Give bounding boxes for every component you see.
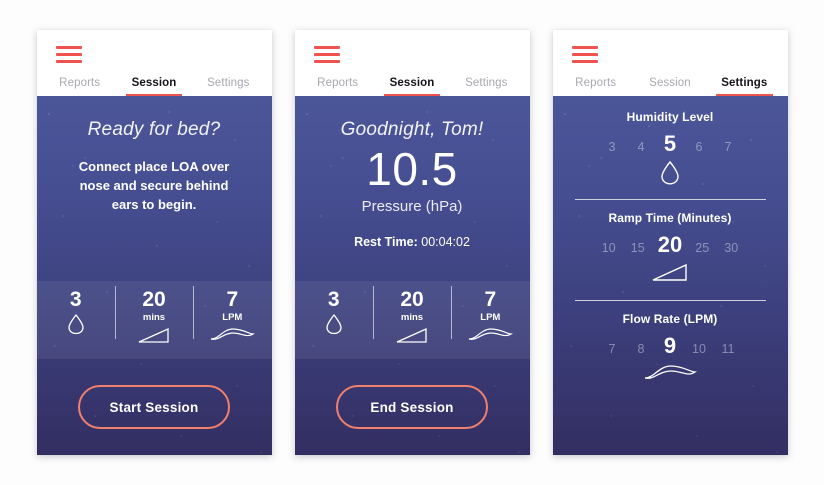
picker-option[interactable]: 6	[690, 140, 708, 154]
phone-panel-settings: Reports Session Settings Humidity Level …	[553, 30, 788, 455]
panel3-body: Humidity Level 3 4 5 6 7 Ramp Time	[553, 96, 788, 455]
hamburger-bar	[56, 60, 82, 63]
tab-session[interactable]: Session	[117, 77, 191, 96]
stat-unit: mins	[373, 312, 451, 323]
stat-unit: mins	[115, 312, 193, 323]
panel3-tabbar: Reports Session Settings	[553, 77, 788, 96]
tab-reports[interactable]: Reports	[301, 77, 375, 96]
hamburger-bar	[314, 60, 340, 63]
hamburger-bar	[56, 53, 82, 56]
picker-option[interactable]: 25	[693, 241, 711, 255]
setting-title: Humidity Level	[553, 110, 788, 124]
panel1-body: Ready for bed? Connect place LOA over no…	[37, 96, 272, 455]
picker-option[interactable]: 7	[719, 140, 737, 154]
stat-flow-rate[interactable]: 7 LPM	[451, 281, 529, 347]
rest-time-row: Rest Time: 00:04:02	[311, 235, 514, 249]
setting-divider	[575, 300, 766, 301]
hamburger-menu-icon[interactable]	[314, 46, 340, 63]
ramp-wedge-icon	[115, 325, 193, 347]
flow-wave-icon	[553, 361, 788, 391]
tab-reports[interactable]: Reports	[559, 77, 633, 96]
end-session-button[interactable]: End Session	[336, 385, 488, 429]
flow-rate-picker[interactable]: 7 8 9 10 11	[553, 333, 788, 359]
setting-group-ramp-time: Ramp Time (Minutes) 10 15 20 25 30	[553, 211, 788, 290]
flow-wave-icon	[193, 325, 271, 347]
screenshot-canvas: Reports Session Settings Ready for bed? …	[0, 0, 824, 485]
ramp-wedge-icon	[553, 260, 788, 290]
picker-option[interactable]: 30	[722, 241, 740, 255]
panel1-header: Reports Session Settings	[37, 30, 272, 96]
stat-unit: LPM	[193, 312, 271, 323]
pressure-value: 10.5	[311, 146, 514, 192]
picker-option[interactable]: 15	[629, 241, 647, 255]
panel1-action-area: Start Session	[37, 359, 272, 455]
rest-time-label: Rest Time:	[354, 235, 418, 249]
setting-title: Flow Rate (LPM)	[553, 312, 788, 326]
panel2-hero: Goodnight, Tom! 10.5 Pressure (hPa) Rest…	[295, 96, 530, 281]
stat-value: 3	[295, 289, 373, 311]
panel1-stats-strip: 3 20 mins 7 LPM	[37, 281, 272, 359]
tab-settings[interactable]: Settings	[707, 77, 781, 96]
stat-value: 3	[37, 289, 115, 311]
hamburger-bar	[572, 46, 598, 49]
settings-list: Humidity Level 3 4 5 6 7 Ramp Time	[553, 96, 788, 455]
hamburger-menu-icon[interactable]	[572, 46, 598, 63]
stat-value: 7	[193, 289, 271, 311]
setting-group-humidity-level: Humidity Level 3 4 5 6 7	[553, 110, 788, 189]
panel2-body: Goodnight, Tom! 10.5 Pressure (hPa) Rest…	[295, 96, 530, 455]
hamburger-menu-icon[interactable]	[56, 46, 82, 63]
stat-value: 20	[373, 289, 451, 311]
water-droplet-icon	[295, 313, 373, 335]
picker-option[interactable]: 7	[603, 342, 621, 356]
picker-option-selected[interactable]: 5	[661, 131, 679, 157]
tab-settings[interactable]: Settings	[191, 77, 265, 96]
water-droplet-icon	[37, 313, 115, 335]
ramp-time-picker[interactable]: 10 15 20 25 30	[553, 232, 788, 258]
panel2-tabbar: Reports Session Settings	[295, 77, 530, 96]
stat-ramp-time[interactable]: 20 mins	[373, 281, 451, 347]
picker-option[interactable]: 8	[632, 342, 650, 356]
panel2-action-area: End Session	[295, 359, 530, 455]
picker-option[interactable]: 11	[719, 342, 737, 356]
panel2-stats-strip: 3 20 mins 7 LPM	[295, 281, 530, 359]
page-title: Ready for bed?	[53, 119, 256, 141]
instruction-text: Connect place LOA over nose and secure b…	[53, 158, 256, 215]
picker-option[interactable]: 3	[603, 140, 621, 154]
phone-panel-session-idle: Reports Session Settings Ready for bed? …	[37, 30, 272, 455]
start-session-button[interactable]: Start Session	[78, 385, 230, 429]
pressure-label: Pressure (hPa)	[311, 198, 514, 215]
picker-option[interactable]: 4	[632, 140, 650, 154]
panel2-header: Reports Session Settings	[295, 30, 530, 96]
setting-divider	[575, 199, 766, 200]
tab-session[interactable]: Session	[633, 77, 707, 96]
picker-option-selected[interactable]: 20	[658, 232, 682, 258]
picker-option[interactable]: 10	[600, 241, 618, 255]
stat-ramp-time[interactable]: 20 mins	[115, 281, 193, 347]
flow-wave-icon	[451, 325, 529, 347]
panel1-tabbar: Reports Session Settings	[37, 77, 272, 96]
setting-group-flow-rate: Flow Rate (LPM) 7 8 9 10 11	[553, 312, 788, 391]
setting-title: Ramp Time (Minutes)	[553, 211, 788, 225]
stat-unit: LPM	[451, 312, 529, 323]
picker-option-selected[interactable]: 9	[661, 333, 679, 359]
picker-option[interactable]: 10	[690, 342, 708, 356]
panel1-hero: Ready for bed? Connect place LOA over no…	[37, 96, 272, 281]
hamburger-bar	[572, 53, 598, 56]
water-droplet-icon	[553, 159, 788, 189]
hamburger-bar	[56, 46, 82, 49]
phone-panel-session-active: Reports Session Settings Goodnight, Tom!…	[295, 30, 530, 455]
stat-value: 20	[115, 289, 193, 311]
tab-session[interactable]: Session	[375, 77, 449, 96]
rest-time-value: 00:04:02	[421, 235, 470, 249]
ramp-wedge-icon	[373, 325, 451, 347]
tab-settings[interactable]: Settings	[449, 77, 523, 96]
hamburger-bar	[314, 46, 340, 49]
stat-humidity[interactable]: 3	[295, 281, 373, 335]
hamburger-bar	[572, 60, 598, 63]
greeting-text: Goodnight, Tom!	[311, 119, 514, 141]
tab-reports[interactable]: Reports	[43, 77, 117, 96]
panel3-header: Reports Session Settings	[553, 30, 788, 96]
humidity-level-picker[interactable]: 3 4 5 6 7	[553, 131, 788, 157]
stat-flow-rate[interactable]: 7 LPM	[193, 281, 271, 347]
stat-value: 7	[451, 289, 529, 311]
stat-humidity[interactable]: 3	[37, 281, 115, 335]
hamburger-bar	[314, 53, 340, 56]
